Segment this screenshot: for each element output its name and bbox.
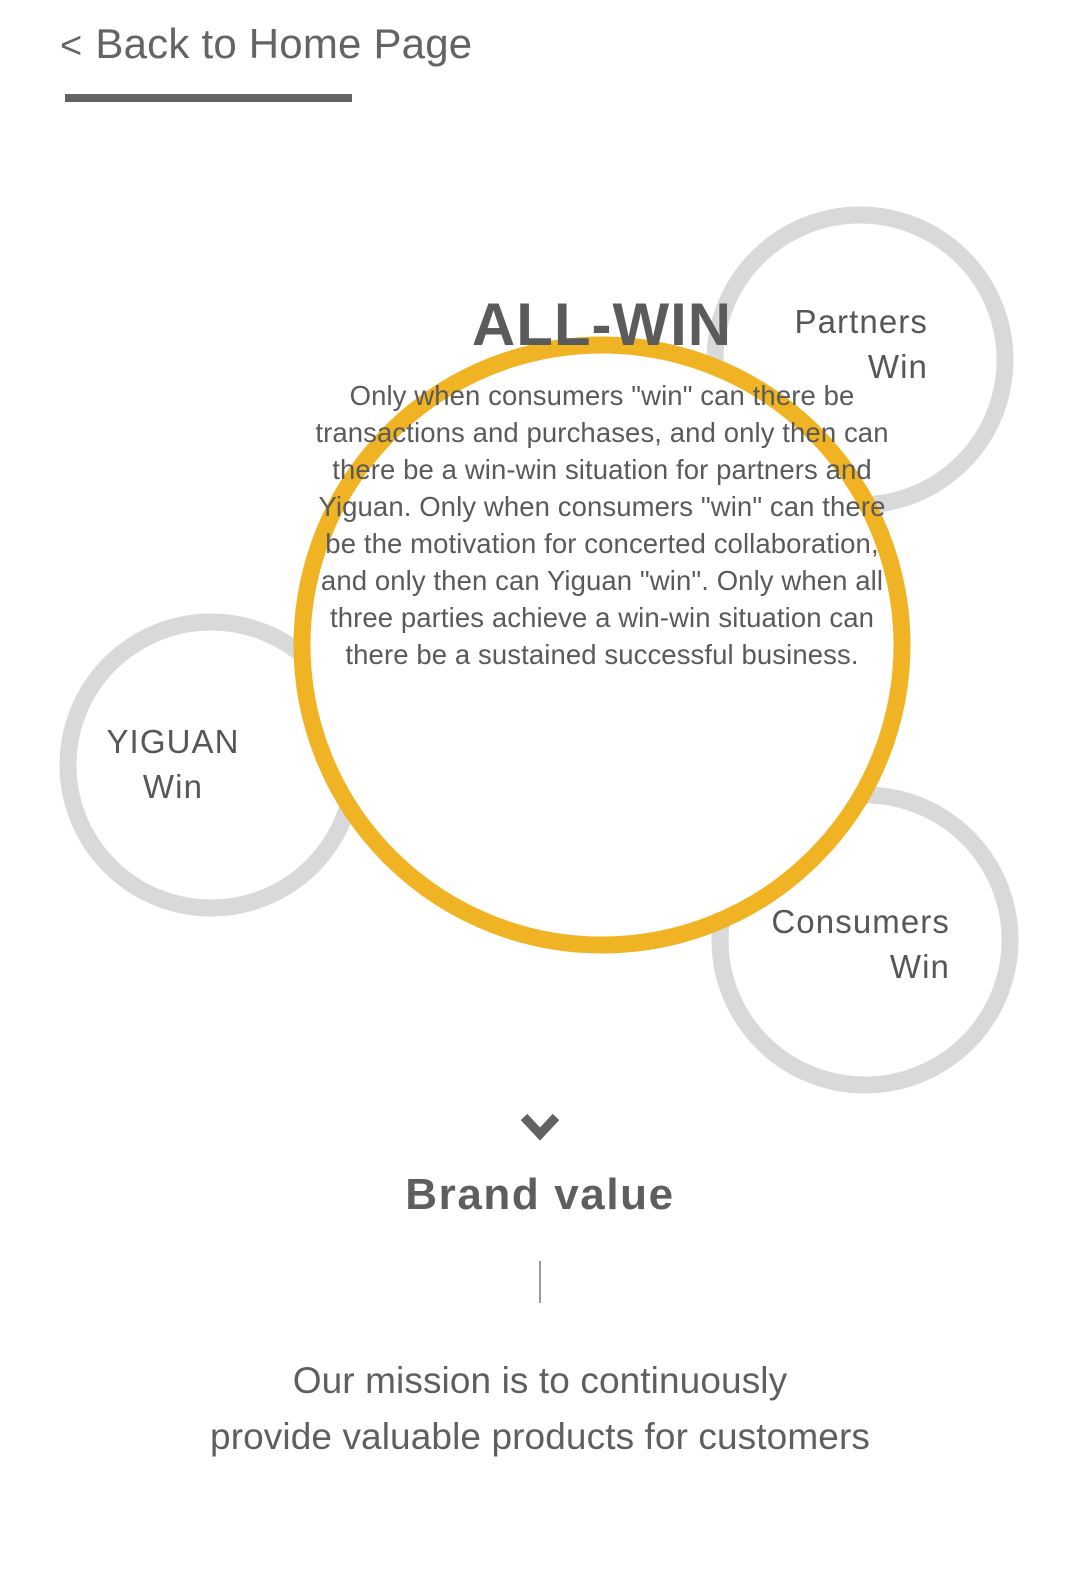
mission-line-1: Our mission is to continuously (0, 1353, 1080, 1409)
chevron-down-icon (517, 1105, 563, 1145)
header-underline-rule (65, 94, 352, 102)
ring-label-yiguan: YIGUAN Win (58, 720, 288, 810)
brand-value-heading: Brand value (0, 1173, 1080, 1217)
all-win-title: ALL-WIN (301, 295, 903, 355)
yiguan-label-line2: Win (143, 768, 203, 805)
yiguan-label-line1: YIGUAN (106, 723, 239, 760)
all-win-body-text: Only when consumers "win" can there be t… (301, 377, 903, 673)
page-root: < Back to Home Page Partners Win Consume… (0, 0, 1080, 1593)
consumers-label-line1: Consumers (771, 903, 950, 940)
back-link-label: Back to Home Page (95, 20, 472, 68)
vertical-divider (539, 1261, 541, 1303)
brand-value-section: Brand value Our mission is to continuous… (0, 1105, 1080, 1465)
mission-statement: Our mission is to continuously provide v… (0, 1353, 1080, 1465)
all-win-content: ALL-WIN Only when consumers "win" can th… (301, 295, 903, 673)
ring-label-consumers: Consumers Win (600, 900, 950, 990)
all-win-diagram: Partners Win Consumers Win YIGUAN Win AL… (0, 140, 1080, 1100)
consumers-label-line2: Win (890, 948, 950, 985)
back-chevron-icon: < (60, 27, 82, 65)
mission-line-2: provide valuable products for customers (0, 1409, 1080, 1465)
back-to-home-link[interactable]: < Back to Home Page (60, 20, 472, 68)
